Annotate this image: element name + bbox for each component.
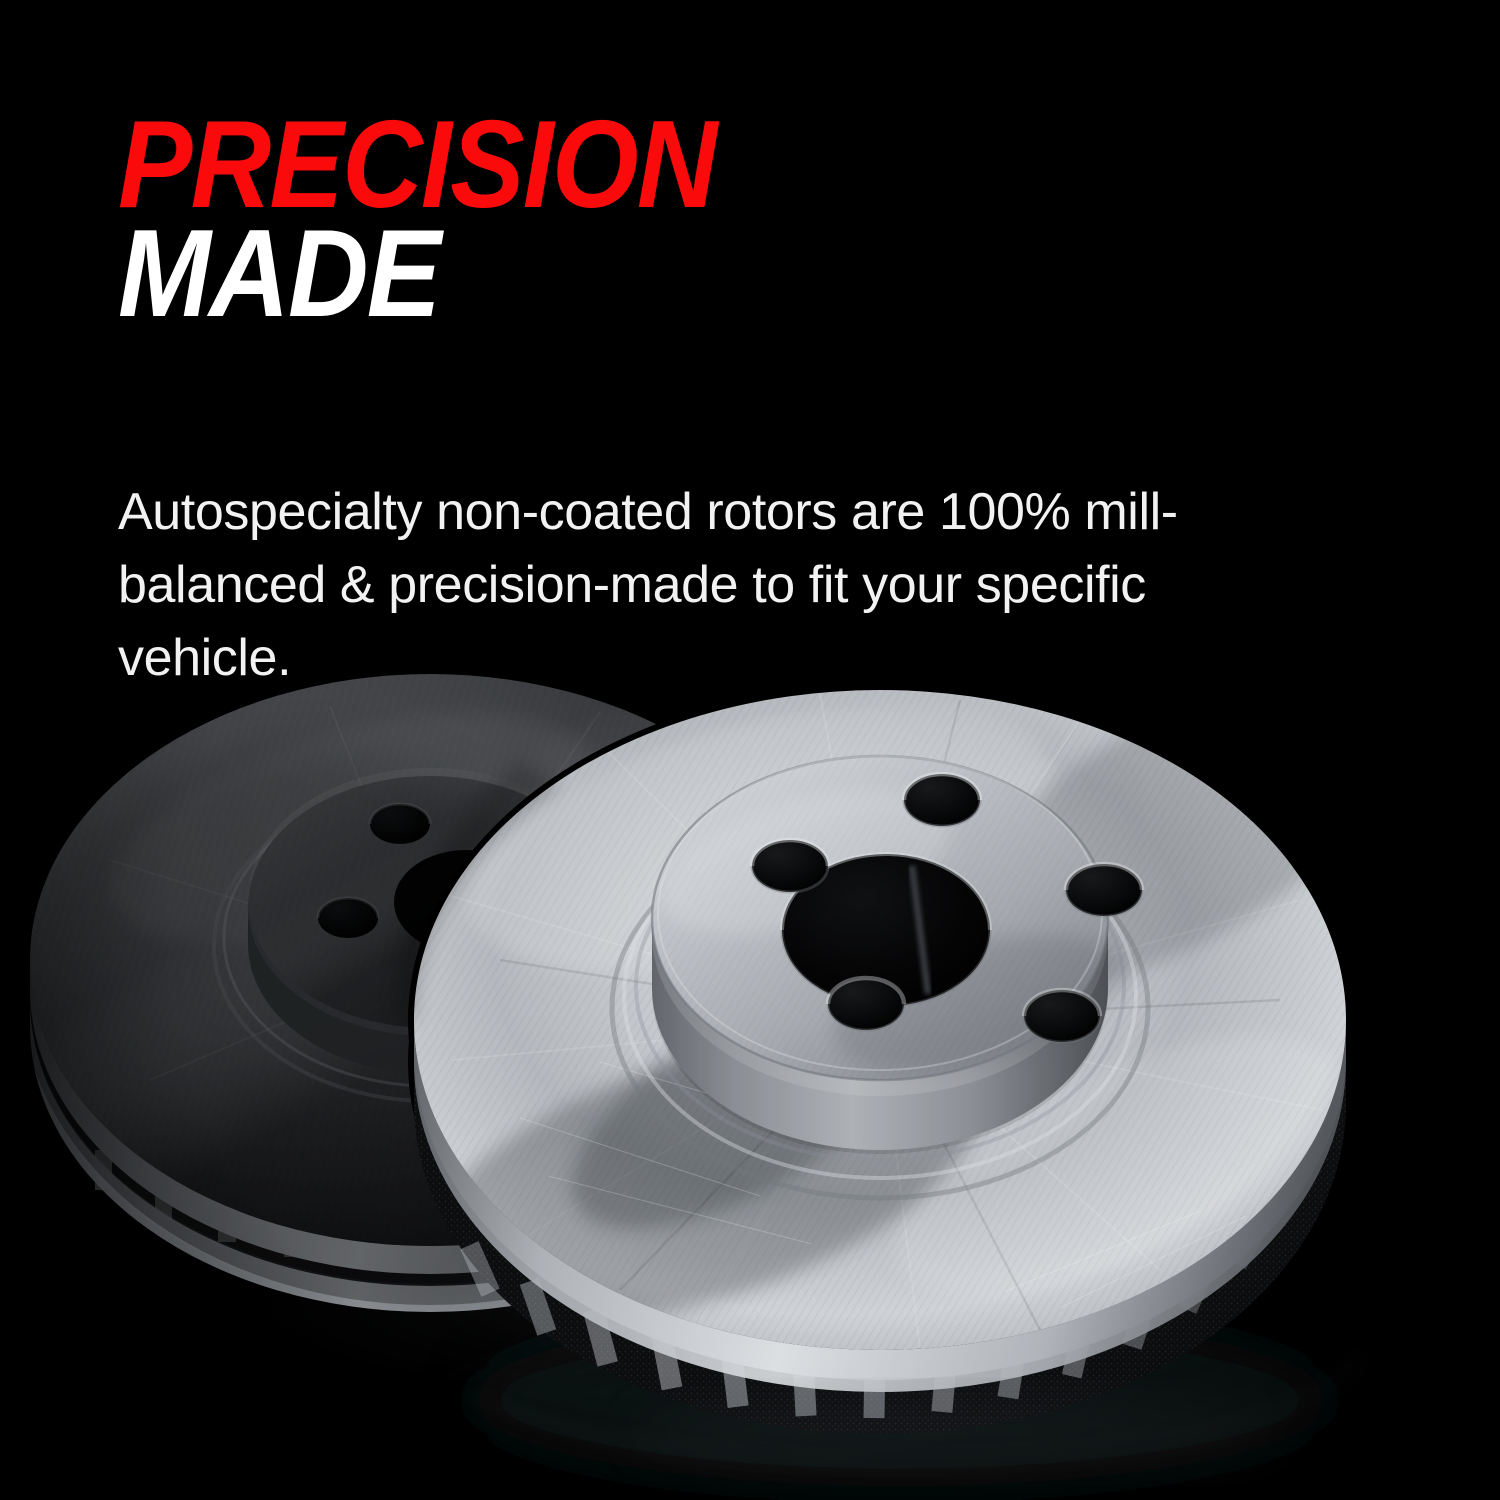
- headline-line-made: MADE: [118, 221, 1270, 328]
- headline-line-precision: PRECISION: [118, 112, 1270, 219]
- headline: PRECISION MADE: [118, 112, 1398, 327]
- product-marketing-banner: PRECISION MADE Autospecialty non-coated …: [0, 0, 1500, 1500]
- product-description: Autospecialty non-coated rotors are 100%…: [118, 476, 1298, 695]
